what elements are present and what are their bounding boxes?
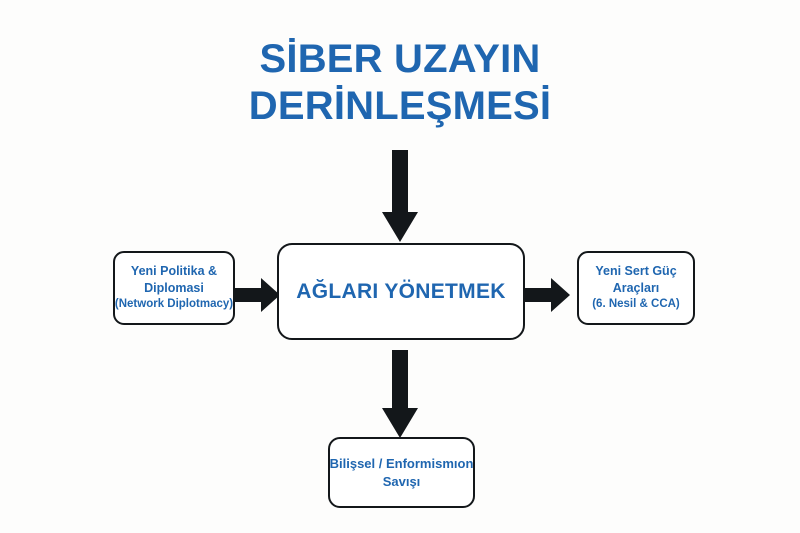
node-right-line-3: (6. Nesil & CCA)	[592, 296, 680, 313]
node-cognitive-information-warfare[interactable]: Bilişsel / Enformismıon Savışı	[328, 437, 475, 508]
page-title: SİBER UZAYIN DERİNLEŞMESİ	[0, 36, 800, 130]
node-left-line-3: (Network Diplotmacy)	[115, 296, 233, 313]
node-new-hard-power-tools[interactable]: Yeni Sert Güç Araçları (6. Nesil & CCA)	[577, 251, 695, 325]
node-new-policy-diplomacy[interactable]: Yeni Politika & Diplomasi (Network Diplo…	[113, 251, 235, 325]
arrow-down-center-to-bottom	[374, 350, 426, 438]
node-right-line-1: Yeni Sert Güç	[595, 263, 676, 280]
node-center-label: AĞLARI YÖNETMEK	[296, 279, 505, 304]
diagram-canvas: SİBER UZAYIN DERİNLEŞMESİ Yeni Politika …	[0, 0, 800, 533]
arrow-down-title-to-center	[374, 150, 426, 242]
node-left-line-2: Diplomasi	[144, 280, 204, 297]
arrow-right-center-to-right	[524, 276, 570, 314]
node-left-line-1: Yeni Politika &	[131, 263, 217, 280]
node-bottom-line-1: Bilişsel / Enformismıon	[330, 455, 474, 473]
title-line-1: SİBER UZAYIN	[0, 36, 800, 83]
title-line-2: DERİNLEŞMESİ	[0, 83, 800, 130]
arrow-right-left-to-center	[234, 276, 280, 314]
node-right-line-2: Araçları	[613, 280, 660, 297]
node-bottom-line-2: Savışı	[383, 473, 421, 491]
node-manage-networks[interactable]: AĞLARI YÖNETMEK	[277, 243, 525, 340]
